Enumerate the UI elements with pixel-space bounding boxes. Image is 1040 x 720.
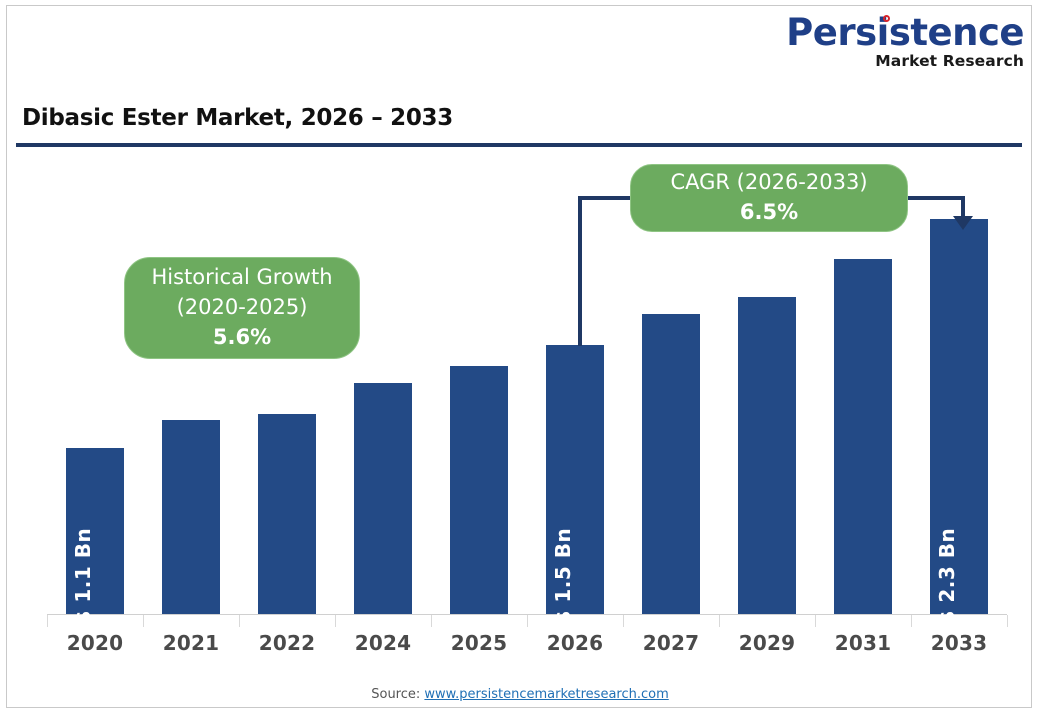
callout-historical-growth: Historical Growth (2020-2025) 5.6%: [124, 257, 360, 359]
brand-name: Persistence: [786, 14, 1024, 51]
x-axis-label-2027: 2027: [633, 631, 709, 655]
chart-page: Persistence Market Research Dibasic Este…: [0, 0, 1040, 720]
callout-cagr: CAGR (2026-2033) 6.5%: [630, 164, 908, 232]
axis-tick: [143, 615, 144, 627]
callout-historical-line2: (2020-2025): [177, 293, 308, 323]
connector-line-vertical-left: [578, 196, 582, 346]
axis-tick: [1007, 615, 1008, 627]
title-divider: [16, 143, 1022, 147]
x-axis-label-2022: 2022: [249, 631, 325, 655]
connector-line-horizontal-right: [902, 196, 965, 200]
brand-logo: Persistence Market Research: [786, 14, 1024, 70]
x-axis-label-2024: 2024: [345, 631, 421, 655]
axis-tick: [527, 615, 528, 627]
x-axis-label-2021: 2021: [153, 631, 229, 655]
x-axis-label-2029: 2029: [729, 631, 805, 655]
bar-2029[interactable]: [738, 297, 796, 614]
callout-historical-line1: Historical Growth: [151, 263, 332, 293]
bar-2024[interactable]: [354, 383, 412, 614]
callout-cagr-value: 6.5%: [740, 198, 798, 228]
page-title: Dibasic Ester Market, 2026 – 2033: [22, 105, 453, 131]
callout-cagr-line1: CAGR (2026-2033): [670, 168, 867, 198]
bar-2021[interactable]: [162, 420, 220, 614]
axis-tick: [239, 615, 240, 627]
bar-2027[interactable]: [642, 314, 700, 614]
axis-tick: [719, 615, 720, 627]
axis-tick: [47, 615, 48, 627]
arrow-head-icon: [953, 216, 973, 230]
axis-tick: [623, 615, 624, 627]
source-prefix: Source:: [371, 687, 424, 702]
bar-2022[interactable]: [258, 414, 316, 614]
x-axis-label-2031: 2031: [825, 631, 901, 655]
axis-tick: [431, 615, 432, 627]
x-axis-label-2026: 2026: [537, 631, 613, 655]
axis-tick: [815, 615, 816, 627]
x-axis-label-2033: 2033: [921, 631, 997, 655]
source-note: Source: www.persistencemarketresearch.co…: [0, 687, 1040, 702]
axis-tick: [911, 615, 912, 627]
source-link[interactable]: www.persistencemarketresearch.com: [424, 687, 668, 702]
brand-tagline: Market Research: [786, 54, 1024, 70]
bar-2033[interactable]: US$ 2.3 Bn: [930, 219, 988, 614]
x-axis-label-2020: 2020: [57, 631, 133, 655]
x-axis-label-2025: 2025: [441, 631, 517, 655]
bar-2026[interactable]: US$ 1.5 Bn: [546, 345, 604, 614]
bar-2031[interactable]: [834, 259, 892, 614]
callout-historical-value: 5.6%: [213, 323, 271, 353]
connector-line-horizontal-left: [578, 196, 636, 200]
bar-2025[interactable]: [450, 366, 508, 614]
axis-tick: [335, 615, 336, 627]
bar-2020[interactable]: US$ 1.1 Bn: [66, 448, 124, 614]
